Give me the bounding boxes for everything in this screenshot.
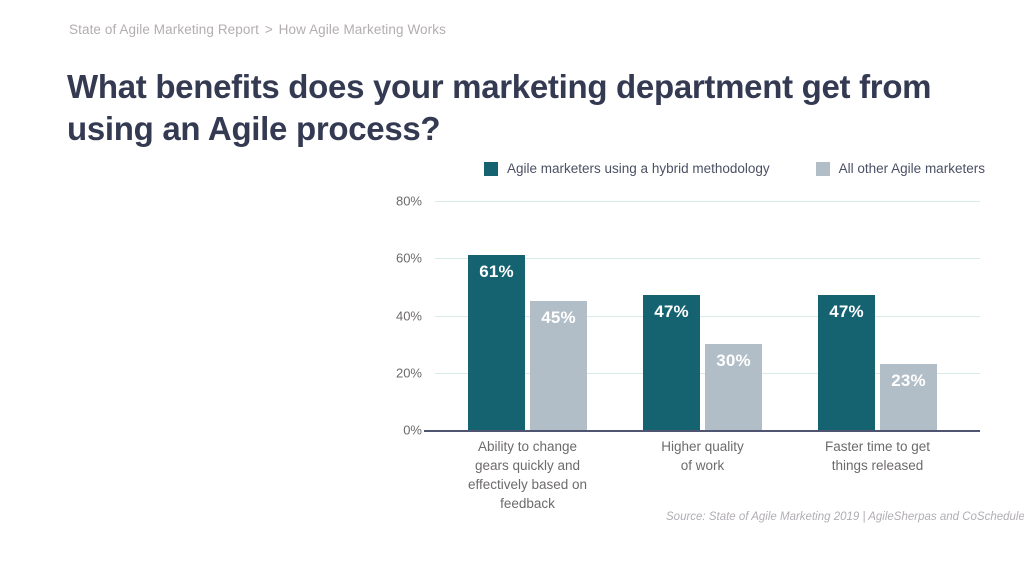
bar-value-label: 30% [705,351,762,371]
bar[interactable]: 47% [818,295,875,430]
legend-swatch-hybrid-icon [484,162,498,176]
bar[interactable]: 61% [468,255,525,430]
category-label-line: feedback [443,494,613,513]
bar[interactable]: 30% [705,344,762,430]
y-axis-tick-label: 0% [403,423,422,438]
source-note: Source: State of Agile Marketing 2019 | … [666,511,1024,523]
x-axis-baseline [424,430,980,432]
category-label-line: gears quickly and [443,456,613,475]
breadcrumb-separator: > [263,22,275,37]
bar-value-label: 23% [880,371,937,391]
breadcrumb: State of Agile Marketing Report > How Ag… [69,22,446,37]
category-label-line: effectively based on [443,475,613,494]
bar-chart-plot-area: 0%20%40%60%80% 61%45%47%30%47%23% [435,201,980,430]
x-axis-category-labels: Ability to changegears quickly andeffect… [435,437,980,517]
x-axis-category-label: Higher qualityof work [618,437,788,475]
category-label-line: Higher quality [618,437,788,456]
bar-series-group: 61%45%47%30%47%23% [435,201,980,430]
x-axis-category-label: Faster time to getthings released [793,437,963,475]
legend-label-other: All other Agile marketers [839,161,985,176]
chart-legend: Agile marketers using a hybrid methodolo… [484,161,985,176]
bar-value-label: 47% [643,302,700,322]
y-axis-tick-label: 40% [396,308,422,323]
legend-label-hybrid: Agile marketers using a hybrid methodolo… [507,161,770,176]
legend-item-other[interactable]: All other Agile marketers [816,161,985,176]
breadcrumb-section: How Agile Marketing Works [279,22,446,37]
category-label-line: Ability to change [443,437,613,456]
legend-swatch-other-icon [816,162,830,176]
category-label-line: things released [793,456,963,475]
bar-value-label: 61% [468,262,525,282]
breadcrumb-report: State of Agile Marketing Report [69,22,259,37]
y-axis-tick-label: 60% [396,251,422,266]
legend-item-hybrid[interactable]: Agile marketers using a hybrid methodolo… [484,161,770,176]
bar-value-label: 45% [530,308,587,328]
bar-value-label: 47% [818,302,875,322]
y-axis-tick-label: 80% [396,194,422,209]
category-label-line: Faster time to get [793,437,963,456]
bar[interactable]: 47% [643,295,700,430]
bar[interactable]: 45% [530,301,587,430]
x-axis-category-label: Ability to changegears quickly andeffect… [443,437,613,514]
y-axis-tick-label: 20% [396,365,422,380]
bar[interactable]: 23% [880,364,937,430]
page-title: What benefits does your marketing depart… [67,66,967,150]
category-label-line: of work [618,456,788,475]
